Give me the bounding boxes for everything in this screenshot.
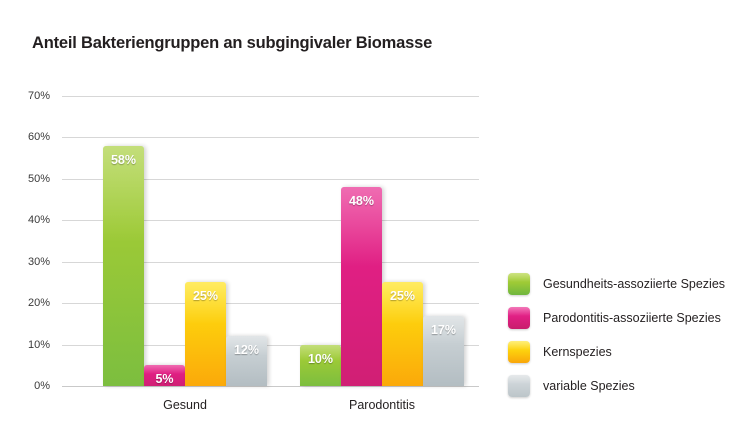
x-axis-category-label: Parodontitis [349, 398, 415, 412]
legend-color-swatch [508, 273, 530, 295]
y-axis-tick-label: 40% [28, 214, 50, 226]
legend-item[interactable]: variable Spezies [508, 370, 740, 401]
legend-color-swatch [508, 375, 530, 397]
legend-color-swatch [508, 341, 530, 363]
bar[interactable]: 58% [103, 146, 144, 386]
y-axis-tick-label: 70% [28, 90, 50, 102]
chart-legend: Gesundheits-assoziierte SpeziesParodonti… [508, 268, 740, 404]
legend-item[interactable]: Gesundheits-assoziierte Spezies [508, 268, 740, 299]
bar-value-label: 10% [300, 352, 341, 366]
y-axis-tick-label: 60% [28, 131, 50, 143]
y-axis-tick-label: 20% [28, 297, 50, 309]
plot-area: 58%5%25%12%10%48%25%17% [62, 96, 479, 386]
y-axis-tick-label: 30% [28, 256, 50, 268]
legend-item-label: Parodontitis-assoziierte Spezies [543, 311, 721, 325]
chart-title: Anteil Bakteriengruppen an subgingivaler… [32, 34, 432, 53]
legend-item[interactable]: Kernspezies [508, 336, 740, 367]
bar[interactable]: 5% [144, 365, 185, 386]
y-axis-tick-labels: 0%10%20%30%40%50%60%70% [0, 96, 56, 386]
legend-item-label: Gesundheits-assoziierte Spezies [543, 277, 725, 291]
bar-value-label: 25% [382, 289, 423, 303]
legend-item-label: Kernspezies [543, 345, 612, 359]
legend-item[interactable]: Parodontitis-assoziierte Spezies [508, 302, 740, 333]
bar[interactable]: 48% [341, 187, 382, 386]
bar[interactable]: 17% [423, 316, 464, 386]
bar[interactable]: 25% [382, 282, 423, 386]
legend-color-swatch [508, 307, 530, 329]
y-axis-tick-label: 10% [28, 339, 50, 351]
bar-value-label: 5% [144, 372, 185, 386]
bar-value-label: 48% [341, 194, 382, 208]
bar-value-label: 25% [185, 289, 226, 303]
bar[interactable]: 25% [185, 282, 226, 386]
bar-value-label: 58% [103, 153, 144, 167]
bars-layer: 58%5%25%12%10%48%25%17% [62, 96, 479, 386]
x-axis-category-labels: GesundParodontitis [62, 392, 479, 418]
bar[interactable]: 12% [226, 336, 267, 386]
bar-value-label: 17% [423, 323, 464, 337]
bar-value-label: 12% [226, 343, 267, 357]
x-axis-category-label: Gesund [163, 398, 207, 412]
gridline [62, 386, 479, 387]
legend-item-label: variable Spezies [543, 379, 635, 393]
y-axis-tick-label: 0% [34, 380, 50, 392]
bar[interactable]: 10% [300, 345, 341, 386]
bar-chart-figure: Anteil Bakteriengruppen an subgingivaler… [0, 0, 750, 439]
y-axis-tick-label: 50% [28, 173, 50, 185]
